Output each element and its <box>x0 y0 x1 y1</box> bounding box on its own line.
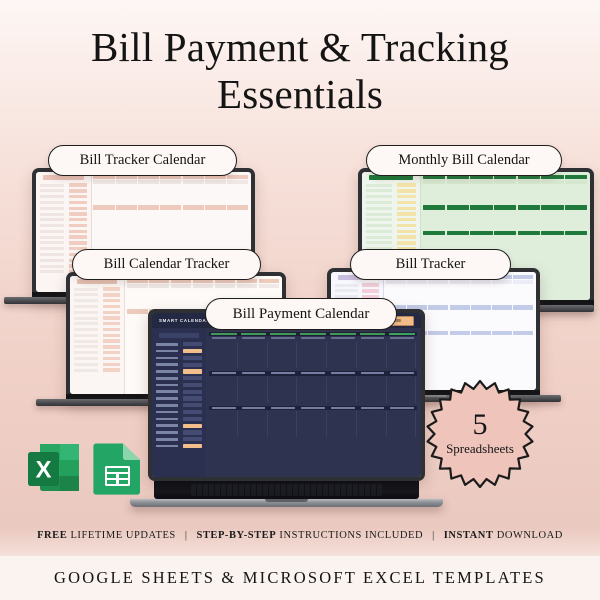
calendar-cell <box>565 211 587 227</box>
list-item <box>74 304 120 308</box>
calendar-cell[interactable] <box>388 377 416 403</box>
badge-number: 5 <box>473 411 488 439</box>
feature-bold-3: INSTANT <box>444 530 494 541</box>
calendar-cell <box>227 211 248 227</box>
feature-separator-2: | <box>423 530 444 541</box>
day-number-row <box>126 284 280 287</box>
list-item <box>74 339 120 343</box>
calendar-cell <box>127 289 148 305</box>
label-pill-bill-calendar-tracker: Bill Calendar Tracker <box>72 249 261 280</box>
calendar-cell <box>447 185 469 201</box>
list-item <box>156 444 202 449</box>
calendar-cell <box>513 311 533 327</box>
label-pill-monthly-bill-calendar: Monthly Bill Calendar <box>366 145 562 176</box>
calendar-cell <box>205 185 226 201</box>
weekday-header-row <box>422 205 588 209</box>
calendar-cell[interactable] <box>269 377 297 403</box>
pill-label: Bill Calendar Tracker <box>104 256 230 273</box>
smart-calendar-app: SMART CALENDAR <box>152 313 421 477</box>
calendar-cell[interactable] <box>328 342 356 368</box>
list-item <box>40 183 87 187</box>
list-item <box>40 212 87 216</box>
calendar-week <box>209 411 417 437</box>
list-item <box>156 356 202 361</box>
feature-rest-3: DOWNLOAD <box>497 530 563 541</box>
day-number-row <box>385 280 534 283</box>
calendar-cell <box>428 336 448 352</box>
calendar-cell <box>183 211 204 227</box>
pill-label: Bill Tracker Calendar <box>80 152 206 169</box>
calendar-week <box>422 185 588 201</box>
list-item <box>74 327 120 331</box>
page-title: Bill Payment & Tracking Essentials <box>0 24 600 118</box>
calendar-cell <box>93 211 114 227</box>
calendar-cell <box>494 185 516 201</box>
calendar-cell <box>423 185 445 201</box>
calendar-week <box>422 211 588 227</box>
calendar-cell <box>470 211 492 227</box>
list-item <box>156 362 202 367</box>
list-item <box>74 368 120 372</box>
calendar-cell <box>470 185 492 201</box>
calendar-cell <box>127 315 148 331</box>
calendar-cell <box>494 211 516 227</box>
macbook-keyboard <box>191 484 382 496</box>
svg-text:X: X <box>35 457 51 484</box>
calendar-cell[interactable] <box>209 342 237 368</box>
list-item <box>40 195 87 199</box>
calendar-cell[interactable] <box>239 342 267 368</box>
list-item <box>40 200 87 204</box>
app-brand-title: SMART CALENDAR <box>159 318 210 323</box>
calendar-cell <box>116 185 137 201</box>
day-number-row <box>93 180 249 183</box>
calendar-cell <box>541 236 563 252</box>
label-pill-bill-tracker-calendar: Bill Tracker Calendar <box>48 145 237 176</box>
list-item <box>74 316 120 320</box>
day-number-row <box>209 337 417 340</box>
calendar-cell <box>541 185 563 201</box>
feature-item-2: STEP-BY-STEP INSTRUCTIONS INCLUDED <box>196 530 423 541</box>
sidebar-header <box>159 333 199 338</box>
calendar-cell <box>171 289 192 305</box>
page-title-line-2: Essentials <box>0 71 600 118</box>
calendar-cell <box>423 211 445 227</box>
calendar-cell <box>565 236 587 252</box>
calendar-cell <box>138 211 159 227</box>
calendar-cell[interactable] <box>358 411 386 437</box>
calendar-cell <box>513 336 533 352</box>
week-separator-row <box>209 406 417 410</box>
product-listing-graphic: Bill Payment & Tracking Essentials <box>0 0 600 600</box>
calendar-cell[interactable] <box>269 411 297 437</box>
list-item <box>74 351 120 355</box>
list-item <box>366 200 416 204</box>
list-item <box>74 345 120 349</box>
list-item <box>156 376 202 381</box>
calendar-cell[interactable] <box>269 342 297 368</box>
list-item <box>335 283 379 287</box>
list-item <box>74 322 120 326</box>
pill-label: Bill Payment Calendar <box>233 306 370 323</box>
calendar-week <box>209 342 417 368</box>
list-item <box>366 241 416 245</box>
calendar-cell[interactable] <box>299 342 327 368</box>
calendar-cell <box>386 285 406 301</box>
microsoft-excel-icon: X <box>26 440 81 495</box>
list-item <box>40 189 87 193</box>
calendar-cell[interactable] <box>358 377 386 403</box>
feature-line: FREE LIFETIME UPDATES|STEP-BY-STEP INSTR… <box>0 530 600 541</box>
calendar-cell[interactable] <box>328 377 356 403</box>
calendar-cell <box>116 211 137 227</box>
bottom-bar-text: GOOGLE SHEETS & MICROSOFT EXCEL TEMPLATE… <box>54 568 546 588</box>
app-body <box>152 328 421 477</box>
list-item <box>156 417 202 422</box>
pill-label: Monthly Bill Calendar <box>398 152 529 169</box>
label-pill-bill-payment-calendar: Bill Payment Calendar <box>205 298 397 330</box>
list-item <box>40 229 87 233</box>
macbook-keyboard-deck <box>154 481 419 499</box>
list-item <box>156 349 202 354</box>
list-item <box>156 342 202 347</box>
calendar-cell <box>428 285 448 301</box>
calendar-cell <box>160 211 181 227</box>
calendar-cell <box>183 185 204 201</box>
list-item <box>40 206 87 210</box>
calendar-cell <box>565 185 587 201</box>
pill-label: Bill Tracker <box>396 256 466 273</box>
calendar-cell <box>407 285 427 301</box>
list-item <box>156 369 202 374</box>
calendar-cell <box>450 336 470 352</box>
list-item <box>74 299 120 303</box>
calendar-cell[interactable] <box>358 342 386 368</box>
calendar-cell[interactable] <box>299 411 327 437</box>
calendar-cell <box>518 236 540 252</box>
list-item <box>74 293 120 297</box>
feature-rest-2: INSTRUCTIONS INCLUDED <box>279 530 423 541</box>
week-separator-row <box>209 371 417 375</box>
list-item <box>74 356 120 360</box>
list-item <box>74 362 120 366</box>
calendar-cell <box>205 211 226 227</box>
list-item <box>156 383 202 388</box>
calendar-cell <box>93 185 114 201</box>
calendar-cell <box>471 336 491 352</box>
list-item <box>40 241 87 245</box>
feature-bold-2: STEP-BY-STEP <box>196 530 276 541</box>
list-item <box>366 235 416 239</box>
list-item <box>74 287 120 291</box>
calendar-cell <box>447 211 469 227</box>
app-calendar-grid <box>206 328 421 477</box>
list-item <box>74 310 120 314</box>
calendar-cell <box>149 289 170 305</box>
list-item <box>366 195 416 199</box>
screen-bill-payment-calendar: SMART CALENDAR <box>152 313 421 477</box>
list-item <box>156 389 202 394</box>
list-item <box>366 189 416 193</box>
list-item <box>366 206 416 210</box>
calendar-cell <box>492 336 512 352</box>
calendar-cell <box>513 285 533 301</box>
feature-item-3: INSTANT DOWNLOAD <box>444 530 563 541</box>
calendar-cell <box>428 311 448 327</box>
calendar-cell <box>492 285 512 301</box>
feature-bold-1: FREE <box>37 530 67 541</box>
list-item <box>156 437 202 442</box>
weekday-header-row <box>422 231 588 235</box>
calendar-cell <box>138 185 159 201</box>
macbook-notch <box>265 499 309 502</box>
calendar-cell[interactable] <box>328 411 356 437</box>
macbook-base <box>130 499 443 507</box>
calendar-week <box>93 185 249 201</box>
list-item <box>366 212 416 216</box>
app-sidebar <box>152 328 206 477</box>
list-item <box>366 183 416 187</box>
calendar-cell[interactable] <box>209 377 237 403</box>
list-item <box>366 229 416 233</box>
list-item <box>74 333 120 337</box>
list-item <box>40 235 87 239</box>
day-number-row <box>422 180 588 183</box>
calendar-cell <box>492 311 512 327</box>
calendar-cell[interactable] <box>239 377 267 403</box>
weekday-header-row <box>209 332 417 336</box>
calendar-cell <box>471 285 491 301</box>
list-item <box>366 218 416 222</box>
feature-item-1: FREE LIFETIME UPDATES <box>37 530 176 541</box>
list-item <box>366 223 416 227</box>
calendar-cell <box>450 311 470 327</box>
calendar-cell <box>227 185 248 201</box>
calendar-week <box>209 377 417 403</box>
calendar-cell <box>471 311 491 327</box>
macbook-bill-payment-calendar: SMART CALENDAR <box>148 309 425 481</box>
list-item <box>156 423 202 428</box>
calendar-cell <box>160 185 181 201</box>
bottom-bar: GOOGLE SHEETS & MICROSOFT EXCEL TEMPLATE… <box>0 555 600 600</box>
list-item <box>156 410 202 415</box>
calendar-cell[interactable] <box>299 377 327 403</box>
feature-separator-1: | <box>176 530 197 541</box>
badge-label: Spreadsheets <box>446 441 514 457</box>
page-title-line-1: Bill Payment & Tracking <box>91 24 509 70</box>
badge-text: 5 Spreadsheets <box>424 378 536 490</box>
list-item <box>156 396 202 401</box>
list-item <box>335 289 379 293</box>
list-item <box>40 223 87 227</box>
calendar-cell[interactable] <box>209 411 237 437</box>
spreadsheet-count-badge: 5 Spreadsheets <box>424 378 536 490</box>
calendar-cell[interactable] <box>239 411 267 437</box>
calendar-week <box>93 211 249 227</box>
calendar-cell <box>518 185 540 201</box>
google-sheets-icon <box>92 440 144 495</box>
calendar-week <box>385 285 534 301</box>
calendar-cell <box>450 285 470 301</box>
compatible-apps: X <box>26 440 144 495</box>
calendar-cell[interactable] <box>388 411 416 437</box>
weekday-header-row <box>93 205 249 209</box>
calendar-cell[interactable] <box>388 342 416 368</box>
feature-rest-1: LIFETIME UPDATES <box>70 530 175 541</box>
label-pill-bill-tracker: Bill Tracker <box>350 249 511 280</box>
list-item <box>40 218 87 222</box>
list-item <box>156 430 202 435</box>
calendar-cell <box>518 211 540 227</box>
calendar-cell <box>541 211 563 227</box>
sheet-sidebar <box>70 276 125 394</box>
list-item <box>156 403 202 408</box>
